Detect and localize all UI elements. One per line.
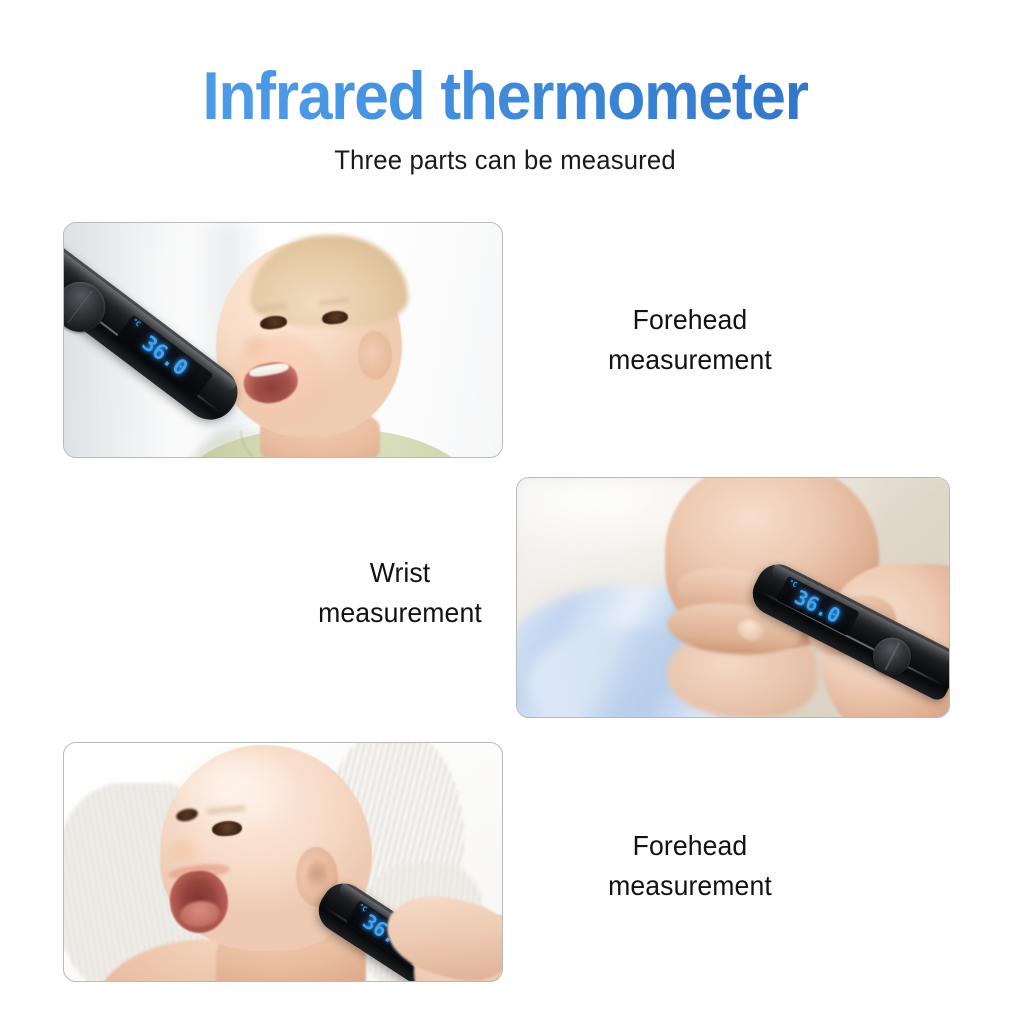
baby-ear xyxy=(358,331,392,379)
display-reading: 36.0 xyxy=(792,586,844,626)
display-unit-label: °C xyxy=(787,579,798,589)
forehead-photo: °C 36.0 xyxy=(64,223,502,457)
baby-nose xyxy=(168,839,202,867)
ear-photo: °C 36.0 xyxy=(64,743,502,981)
page-title: Infrared thermometer xyxy=(40,62,969,130)
caption-forehead: Forehead measurement xyxy=(543,300,838,380)
photo-card-forehead: °C 36.0 xyxy=(63,222,503,458)
display-reading: 36.0 xyxy=(138,333,191,380)
caption-ear-line1: Forehead xyxy=(543,826,838,866)
wrist-photo: °C 36.0 xyxy=(517,478,949,717)
caption-ear: Forehead measurement xyxy=(543,826,838,906)
display-unit-label: °C xyxy=(357,903,368,913)
caption-wrist-line1: Wrist xyxy=(262,553,538,593)
caption-forehead-line2: measurement xyxy=(543,340,838,380)
photo-card-ear: °C 36.0 xyxy=(63,742,503,982)
display-unit-label: °C xyxy=(131,318,142,329)
baby-nose xyxy=(242,335,272,359)
photo-card-wrist: °C 36.0 xyxy=(516,477,950,718)
page-subtitle: Three parts can be measured xyxy=(25,145,985,176)
caption-wrist: Wrist measurement xyxy=(262,553,538,633)
caption-forehead-line1: Forehead xyxy=(543,300,838,340)
caption-ear-line2: measurement xyxy=(543,866,838,906)
caption-wrist-line2: measurement xyxy=(262,593,538,633)
